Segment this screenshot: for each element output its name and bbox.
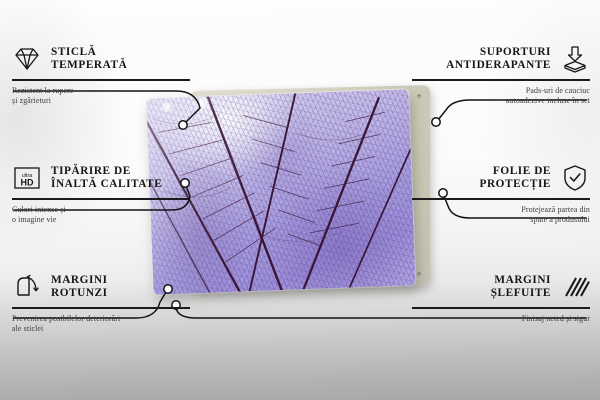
feature-title: MARGINI ROTUNZI — [51, 274, 108, 300]
feature-tiparire-inalta-calitate: ultra HD TIPĂRIRE DE ÎNALTĂ CALITATE Cul… — [12, 163, 190, 225]
feature-folie-de-protectie: FOLIE DE PROTECȚIE Protejează partea din… — [412, 163, 590, 225]
divider — [412, 307, 590, 309]
feature-margini-rotunzi: MARGINI ROTUNZI Prevenirea posibilelor d… — [12, 272, 190, 334]
feature-head: MARGINI ROTUNZI — [12, 272, 190, 302]
feature-subtitle: Pads-uri de cauciuc autoadezive incluse … — [412, 86, 590, 106]
anti-slip-pad-icon — [560, 44, 590, 74]
divider — [412, 198, 590, 200]
feature-head: STICLĂ TEMPERATĂ — [12, 44, 190, 74]
divider — [12, 79, 190, 81]
feature-suporturi-antiderapante: SUPORTURI ANTIDERAPANTE Pads-uri de cauc… — [412, 44, 590, 106]
ultra-hd-icon: ultra HD — [12, 163, 42, 193]
feature-head: FOLIE DE PROTECȚIE — [412, 163, 590, 193]
feature-subtitle: Prevenirea posibilelor deteriorări ale s… — [12, 314, 190, 334]
feature-sticla-temperata: STICLĂ TEMPERATĂ Rezistent la rupere și … — [12, 44, 190, 106]
feature-title: SUPORTURI ANTIDERAPANTE — [446, 46, 551, 72]
feature-head: ultra HD TIPĂRIRE DE ÎNALTĂ CALITATE — [12, 163, 190, 193]
feature-title: TIPĂRIRE DE ÎNALTĂ CALITATE — [51, 165, 162, 191]
feature-head: MARGINI ȘLEFUITE — [412, 272, 590, 302]
feature-margini-slefuite: MARGINI ȘLEFUITE Finisaj neted și sigur — [412, 272, 590, 324]
diamond-icon — [12, 44, 42, 74]
feature-title: MARGINI ȘLEFUITE — [491, 274, 551, 300]
divider — [412, 79, 590, 81]
svg-text:HD: HD — [21, 177, 34, 187]
divider — [12, 198, 190, 200]
feature-subtitle: Protejează partea din spate a produsului — [412, 205, 590, 225]
feature-title: FOLIE DE PROTECȚIE — [480, 165, 552, 191]
shield-check-icon — [560, 163, 590, 193]
feature-head: SUPORTURI ANTIDERAPANTE — [412, 44, 590, 74]
feature-subtitle: Rezistent la rupere și zgârieturi — [12, 86, 190, 106]
infographic-canvas: STICLĂ TEMPERATĂ Rezistent la rupere și … — [0, 0, 600, 400]
rounded-corner-icon — [12, 272, 42, 302]
feature-subtitle: Finisaj neted și sigur — [412, 314, 590, 324]
feature-title: STICLĂ TEMPERATĂ — [51, 46, 127, 72]
feature-subtitle: Culori intense și o imagine vie — [12, 205, 190, 225]
polished-edge-icon — [560, 272, 590, 302]
divider — [12, 307, 190, 309]
